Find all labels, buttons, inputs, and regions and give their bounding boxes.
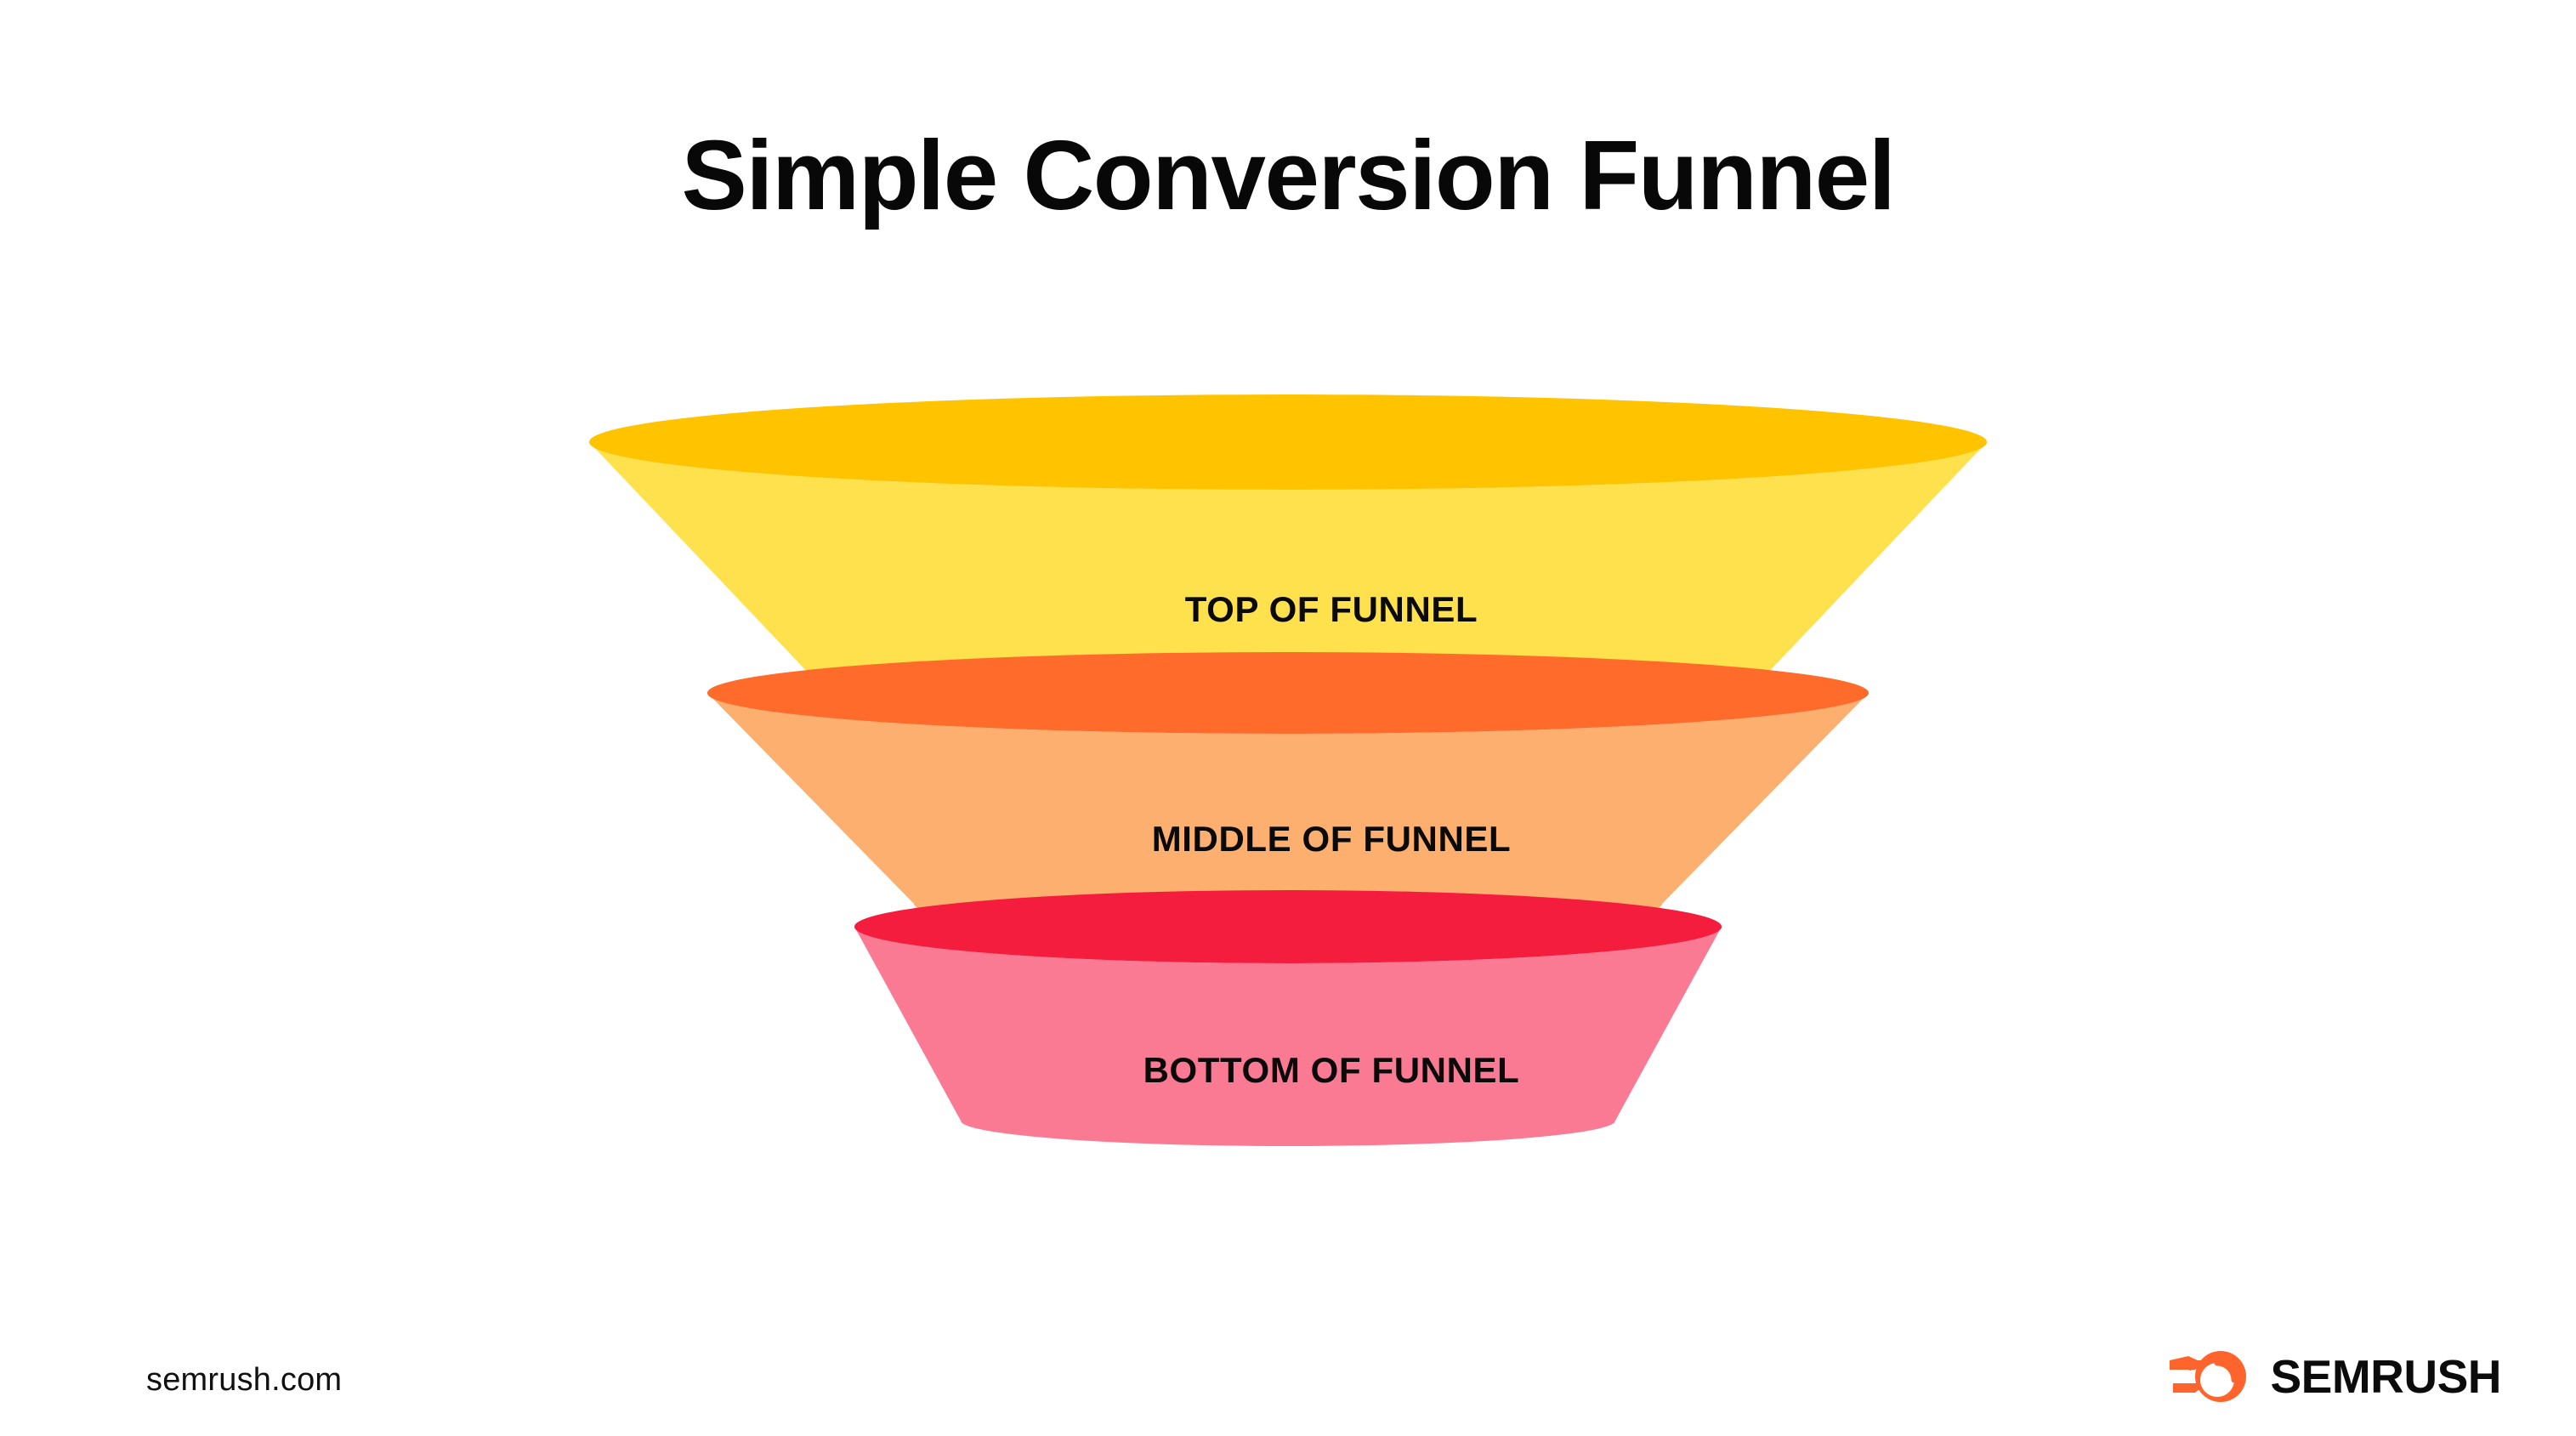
funnel-stage-top-label: TOP OF FUNNEL: [1185, 589, 1478, 629]
semrush-comet-icon: [2170, 1348, 2251, 1405]
slide-canvas: Simple Conversion Funnel TOP OF FUNNEL M…: [0, 0, 2576, 1436]
funnel-stage-middle-rim: [707, 652, 1869, 734]
semrush-wordmark: SEMRUSH: [2270, 1354, 2501, 1400]
funnel-stage-bottom-label: BOTTOM OF FUNNEL: [1143, 1050, 1520, 1090]
semrush-logo: SEMRUSH: [2170, 1348, 2501, 1405]
footer-url: semrush.com: [146, 1362, 342, 1399]
funnel-stage-bottom-rim: [854, 890, 1722, 963]
funnel-stage-middle-label: MIDDLE OF FUNNEL: [1152, 819, 1512, 859]
funnel-chart: TOP OF FUNNEL MIDDLE OF FUNNEL BOTTOM OF…: [0, 0, 2576, 1436]
funnel-stage-top-rim: [589, 394, 1987, 490]
funnel-stage-bottom[interactable]: BOTTOM OF FUNNEL: [854, 890, 1722, 1146]
